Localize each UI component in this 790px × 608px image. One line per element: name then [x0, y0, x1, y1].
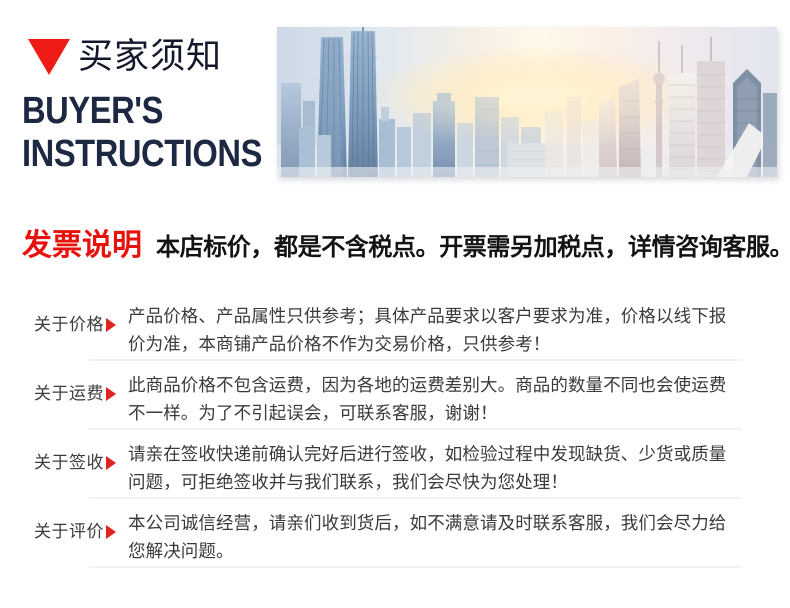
triangle-right-icon [106, 387, 116, 401]
page-title-row: 买家须知 [22, 34, 272, 80]
note-row-receipt: 关于签收 请亲在签收快递前确认完好后进行签收，如检验过程中发现缺货、少货或质量问… [0, 430, 790, 497]
note-row-review: 关于评价 本公司诚信经营，请亲们收到货后，如不满意请及时联系客服，我们会尽力给您… [0, 499, 790, 566]
note-row-price: 关于价格 产品价格、产品属性只供参考；具体产品要求以客户要求为准，价格以线下报价… [0, 292, 790, 359]
note-label-wrap-review: 关于评价 [0, 510, 128, 554]
note-row-shipping: 关于运费 此商品价格不包含运费，因为各地的运费差别大。商品的数量不同也会使运费不… [0, 361, 790, 428]
note-divider [88, 566, 742, 568]
page-title: 买家须知 [78, 37, 222, 77]
note-text-shipping: 此商品价格不包含运费，因为各地的运费差别大。商品的数量不同也会使运费不一样。为了… [128, 372, 790, 428]
note-text-receipt: 请亲在签收快递前确认完好后进行签收，如检验过程中发现缺货、少货或质量问题，可拒绝… [128, 441, 790, 497]
triangle-right-icon [106, 318, 116, 332]
note-label-review: 关于评价 [34, 521, 104, 543]
invoice-notice-label: 发票说明 [22, 227, 142, 265]
note-label-price: 关于价格 [34, 314, 104, 336]
city-skyline-illustration [277, 27, 777, 177]
buyer-instructions-page: 买家须知 BUYER'S INSTRUCTIONS [0, 0, 790, 608]
city-skyline-photo [277, 27, 777, 177]
page-title-english-line1: BUYER'S [22, 90, 237, 133]
invoice-notice-text: 本店标价，都是不含税点。开票需另加税点，详情咨询客服。 [156, 228, 790, 266]
note-label-wrap-receipt: 关于签收 [0, 441, 128, 485]
page-header: 买家须知 BUYER'S INSTRUCTIONS [0, 0, 790, 205]
notes-list: 关于价格 产品价格、产品属性只供参考；具体产品要求以客户要求为准，价格以线下报价… [0, 292, 790, 568]
triangle-right-icon [106, 525, 116, 539]
triangle-down-icon [28, 39, 70, 75]
header-text-block: 买家须知 BUYER'S INSTRUCTIONS [22, 34, 272, 176]
triangle-right-icon [106, 456, 116, 470]
note-text-price: 产品价格、产品属性只供参考；具体产品要求以客户要求为准，价格以线下报价为准，本商… [128, 303, 790, 359]
note-text-review: 本公司诚信经营，请亲们收到货后，如不满意请及时联系客服，我们会尽力给您解决问题。 [128, 510, 790, 566]
note-label-shipping: 关于运费 [34, 383, 104, 405]
page-title-english: BUYER'S INSTRUCTIONS [22, 90, 237, 176]
page-title-english-line2: INSTRUCTIONS [22, 133, 237, 176]
note-label-receipt: 关于签收 [34, 452, 104, 474]
note-label-wrap-price: 关于价格 [0, 303, 128, 347]
note-label-wrap-shipping: 关于运费 [0, 372, 128, 416]
invoice-notice-row: 发票说明 本店标价，都是不含税点。开票需另加税点，详情咨询客服。 [22, 227, 778, 266]
